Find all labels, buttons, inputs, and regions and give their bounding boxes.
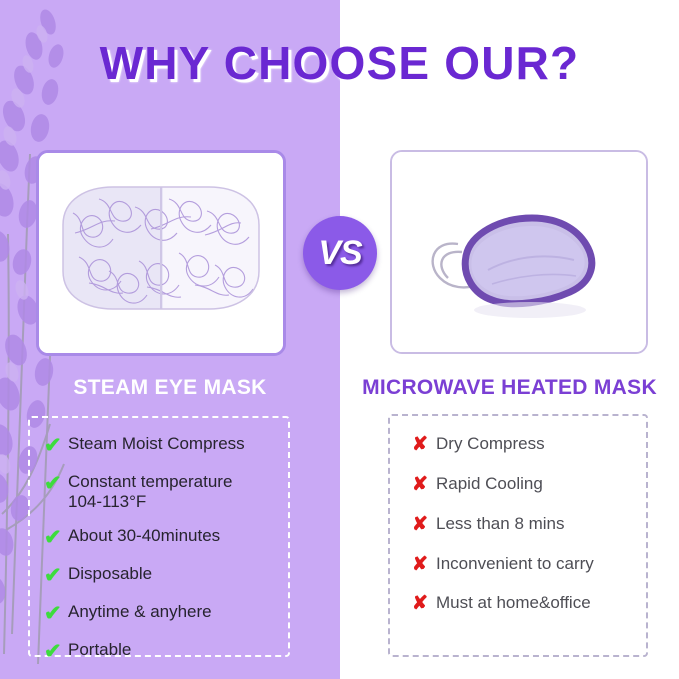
list-item: ✘ Rapid Cooling bbox=[412, 474, 636, 496]
feature-label: Dry Compress bbox=[436, 434, 545, 454]
check-icon: ✔ bbox=[44, 526, 68, 550]
feature-label: Less than 8 mins bbox=[436, 514, 565, 534]
column-heading-left: STEAM EYE MASK bbox=[0, 376, 340, 400]
check-icon: ✔ bbox=[44, 602, 68, 626]
feature-list-left: ✔ Steam Moist Compress ✔ Constant temper… bbox=[44, 434, 278, 664]
feature-list-right: ✘ Dry Compress ✘ Rapid Cooling ✘ Less th… bbox=[412, 434, 636, 615]
check-icon: ✔ bbox=[44, 434, 68, 458]
page-title: WHY CHOOSE OUR? bbox=[0, 36, 679, 90]
list-item: ✔ Disposable bbox=[44, 564, 278, 588]
vs-label: VS bbox=[318, 236, 361, 270]
cross-icon: ✘ bbox=[412, 554, 436, 576]
feature-label: Rapid Cooling bbox=[436, 474, 543, 494]
feature-box-microwave-heated-mask: ✘ Dry Compress ✘ Rapid Cooling ✘ Less th… bbox=[388, 414, 648, 657]
list-item: ✔ Steam Moist Compress bbox=[44, 434, 278, 458]
feature-box-steam-eye-mask: ✔ Steam Moist Compress ✔ Constant temper… bbox=[28, 416, 290, 657]
cross-icon: ✘ bbox=[412, 593, 436, 615]
feature-label: Steam Moist Compress bbox=[68, 434, 245, 454]
column-heading-right: MICROWAVE HEATED MASK bbox=[340, 376, 679, 400]
poster-root: WHY CHOOSE OUR? bbox=[0, 0, 679, 679]
feature-label: Anytime & anyhere bbox=[68, 602, 212, 622]
check-icon: ✔ bbox=[44, 472, 68, 496]
product-card-microwave-heated-mask bbox=[390, 150, 648, 354]
check-icon: ✔ bbox=[44, 640, 68, 664]
microwave-heated-mask-photo bbox=[392, 152, 646, 352]
cross-icon: ✘ bbox=[412, 434, 436, 456]
list-item: ✔ About 30-40minutes bbox=[44, 526, 278, 550]
feature-label: Constant temperature 104-113°F bbox=[68, 472, 232, 511]
check-icon: ✔ bbox=[44, 564, 68, 588]
list-item: ✔ Anytime & anyhere bbox=[44, 602, 278, 626]
steam-eye-mask-photo bbox=[39, 153, 283, 353]
list-item: ✘ Dry Compress bbox=[412, 434, 636, 456]
feature-label: Portable bbox=[68, 640, 131, 660]
list-item: ✘ Less than 8 mins bbox=[412, 514, 636, 536]
cross-icon: ✘ bbox=[412, 514, 436, 536]
cross-icon: ✘ bbox=[412, 474, 436, 496]
list-item: ✘ Inconvenient to carry bbox=[412, 554, 636, 576]
list-item: ✔ Portable bbox=[44, 640, 278, 664]
list-item: ✘ Must at home&office bbox=[412, 593, 636, 615]
vs-badge: VS bbox=[303, 216, 377, 290]
list-item: ✔ Constant temperature 104-113°F bbox=[44, 472, 278, 511]
feature-label: Must at home&office bbox=[436, 593, 591, 613]
feature-label: About 30-40minutes bbox=[68, 526, 220, 546]
feature-label: Disposable bbox=[68, 564, 152, 584]
product-card-steam-eye-mask bbox=[36, 150, 286, 356]
feature-label: Inconvenient to carry bbox=[436, 554, 594, 574]
